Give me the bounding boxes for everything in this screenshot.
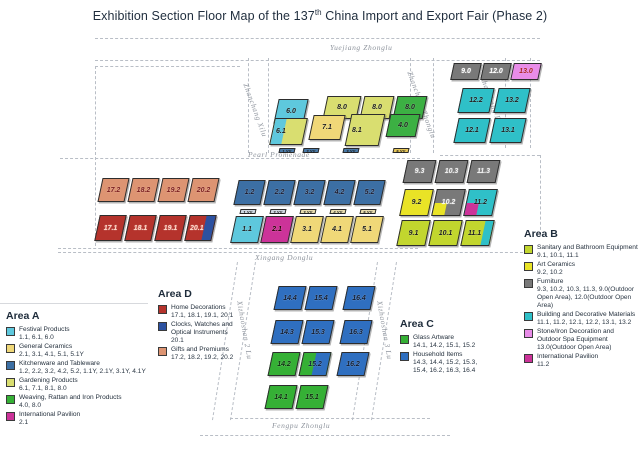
block-label: 15.4 xyxy=(308,287,334,309)
block-label: 16.3 xyxy=(343,321,369,343)
legend-swatch-glass-artware xyxy=(400,335,409,344)
legend-item[interactable]: Glass Artware14.1, 14.2, 15.1, 15.2 xyxy=(400,334,490,350)
road-label-yuejiang-zhonglu: Yuejiang Zhonglu xyxy=(330,43,392,52)
block-label: 15.3 xyxy=(305,321,331,343)
legend-codes: 9.3, 10.2, 10.3, 11.3, 9.0(Outdoor Open … xyxy=(537,286,638,310)
road-line-xingang-upper xyxy=(58,248,418,249)
title-post: China Import and Export Fair (Phase 2) xyxy=(322,9,548,23)
block-label: 12.1 xyxy=(457,119,487,142)
title-sup: th xyxy=(315,8,322,17)
legend-area-d: Area D Home Decorations17.1, 18.1, 19.1,… xyxy=(158,288,253,363)
block-label: 6.1 xyxy=(273,119,307,144)
legend-codes: 11.2 xyxy=(537,361,598,369)
legend-area-b-title: Area B xyxy=(524,228,638,240)
block-label: 9.3 xyxy=(406,161,433,182)
block-15-1[interactable]: 15.1 xyxy=(295,385,328,409)
block-label: 7.1 xyxy=(312,116,342,139)
legend-item[interactable]: Building and Decorative Materials11.1, 1… xyxy=(524,311,638,327)
block-label: 12.2 xyxy=(461,89,491,112)
block-label: 1.2 xyxy=(237,181,262,204)
block-label: 8.1 xyxy=(349,115,384,145)
legend-label: Sanitary and Bathroom Equipment xyxy=(537,244,638,251)
legend-swatch-general-ceramics xyxy=(6,344,15,353)
block-8-1[interactable]: 8.1 xyxy=(345,114,386,146)
legend-label: Home Decorations xyxy=(171,304,226,311)
block-10-2[interactable]: 10.2 xyxy=(431,189,466,216)
legend-area-a: Area A Festival Products1.1, 6.1, 6.0 Ge… xyxy=(6,310,156,428)
block-10-3[interactable]: 10.3 xyxy=(435,160,469,183)
legend-swatch-international-pavilion-b xyxy=(524,354,533,363)
legend-codes: 6.1, 7.1, 8.1, 8.0 xyxy=(19,385,78,393)
entrance-2yy-north[interactable]: 2.YY xyxy=(302,148,319,153)
block-9-2[interactable]: 9.2 xyxy=(399,189,434,216)
block-label: 11.3 xyxy=(470,161,497,182)
block-12-0[interactable]: 12.0 xyxy=(480,63,512,80)
boundary-areab-right xyxy=(540,155,541,235)
road-line-pearl-promenade xyxy=(60,158,420,159)
entrance-label: 5.YY xyxy=(394,149,408,154)
entrance-label: 5.YY xyxy=(361,210,375,215)
block-15-4[interactable]: 15.4 xyxy=(304,286,337,310)
block-4-0[interactable]: 4.0 xyxy=(386,114,421,137)
legend-area-c-title: Area C xyxy=(400,318,490,330)
entrance-1yy-north[interactable]: 1.YY xyxy=(278,148,295,153)
legend-swatch-sanitary-bathroom xyxy=(524,245,533,254)
block-label: 4.0 xyxy=(389,115,417,136)
block-15-2[interactable]: 15.2 xyxy=(298,352,331,376)
legend-swatch-clocks-watches-optical xyxy=(158,322,167,331)
legend-swatch-kitchenware-tableware xyxy=(6,361,15,370)
block-label: 11.2 xyxy=(467,190,494,215)
legend-item[interactable]: General Ceramics2.1, 3.1, 4.1, 5.1, 5.1Y xyxy=(6,343,156,359)
block-13-2[interactable]: 13.2 xyxy=(493,88,530,113)
block-label: 12.0 xyxy=(483,64,509,79)
block-12-1[interactable]: 12.1 xyxy=(453,118,490,143)
block-label: 13.2 xyxy=(497,89,527,112)
legend-swatch-stone-iron-outdoor-spa xyxy=(524,329,533,338)
block-5-2[interactable]: 5.2 xyxy=(353,180,385,205)
entrance-label: 2.YY xyxy=(271,210,285,215)
legend-item[interactable]: Gifts and Premiums17.2, 18.2, 19.2, 20.2 xyxy=(158,346,253,362)
block-14-3[interactable]: 14.3 xyxy=(270,320,303,344)
legend-item[interactable]: Weaving, Rattan and Iron Products4.0, 8.… xyxy=(6,394,156,410)
block-label: 18.2 xyxy=(131,179,156,201)
legend-codes: 20.1 xyxy=(171,337,253,345)
legend-label: Weaving, Rattan and Iron Products xyxy=(19,394,122,401)
entrance-5yy-north[interactable]: 5.YY xyxy=(392,148,409,153)
boundary-areab-top xyxy=(440,155,540,156)
legend-label: Gifts and Premiums xyxy=(171,346,229,353)
block-17-2[interactable]: 17.2 xyxy=(97,178,129,202)
legend-label: Art Ceramics xyxy=(537,261,575,268)
block-9-0[interactable]: 9.0 xyxy=(450,63,482,80)
legend-label: General Ceramics xyxy=(19,343,72,350)
block-1-1[interactable]: 1.1 xyxy=(230,216,264,243)
block-label: 17.2 xyxy=(101,179,126,201)
legend-label: Festival Products xyxy=(19,326,70,333)
legend-swatch-art-ceramics xyxy=(524,262,533,271)
entrance-4yy-areaa[interactable]: 4.YY xyxy=(329,209,346,214)
legend-item[interactable]: Art Ceramics9.2, 10.2 xyxy=(524,261,638,277)
legend-codes: 17.1, 18.1, 19.1, 20.1 xyxy=(171,312,233,320)
legend-codes: 1.1, 6.1, 6.0 xyxy=(19,334,70,342)
boundary-left-vertical xyxy=(95,66,96,246)
block-2-1[interactable]: 2.1 xyxy=(260,216,294,243)
block-label: 16.4 xyxy=(346,287,372,309)
block-label: 9.2 xyxy=(403,190,430,215)
road-line-yuejiang-bottom xyxy=(95,60,540,61)
entrance-label: 1.YY xyxy=(280,149,294,154)
legend-label: Kitchenware and Tableware xyxy=(19,360,100,367)
legend-item[interactable]: International Pavilion11.2 xyxy=(524,353,638,369)
legend-label: International Pavilion xyxy=(537,353,598,360)
block-9-3[interactable]: 9.3 xyxy=(403,160,437,183)
block-12-2[interactable]: 12.2 xyxy=(457,88,494,113)
block-label: 3.1 xyxy=(294,217,320,242)
legend-item[interactable]: Festival Products1.1, 6.1, 6.0 xyxy=(6,326,156,342)
block-20-2[interactable]: 20.2 xyxy=(187,178,219,202)
legend-area-b: Area B Sanitary and Bathroom Equipment9.… xyxy=(524,228,638,370)
floor-map-canvas: Exhibition Section Floor Map of the 137t… xyxy=(0,0,640,455)
legend-label: Building and Decorative Materials xyxy=(537,311,635,318)
road-line-yuejiang-top xyxy=(95,38,540,39)
block-label: 5.1 xyxy=(354,217,380,242)
block-label: 13.0 xyxy=(513,64,539,79)
entrance-label: 3.YY xyxy=(301,210,315,215)
block-16-2[interactable]: 16.2 xyxy=(336,352,369,376)
block-label: 14.1 xyxy=(268,386,294,408)
entrance-5yy-areaa[interactable]: 5.YY xyxy=(359,209,376,214)
legend-item[interactable]: International Pavilion2.1 xyxy=(6,411,156,427)
block-label: 9.0 xyxy=(453,64,479,79)
entrance-label: 2.YY xyxy=(304,149,318,154)
legend-swatch-home-decorations xyxy=(158,305,167,314)
legend-label: Gardening Products xyxy=(19,377,78,384)
legend-codes: 14.3, 14.4, 15.2, 15.3, 15.4, 16.2, 16.3… xyxy=(413,359,490,375)
block-17-1[interactable]: 17.1 xyxy=(94,215,127,241)
block-18-2[interactable]: 18.2 xyxy=(127,178,159,202)
legend-codes: 1.2, 2.2, 3.2, 4.2, 5.2, 1.1Y, 2.1Y, 3.1… xyxy=(19,368,146,376)
block-15-3[interactable]: 15.3 xyxy=(301,320,334,344)
legend-item[interactable]: Home Decorations17.1, 18.1, 19.1, 20.1 xyxy=(158,304,253,320)
road-line-zhanchang-zhonglu-b xyxy=(433,58,434,153)
block-6-1[interactable]: 6.1 xyxy=(269,118,308,145)
entrance-3yy-areaa[interactable]: 3.YY xyxy=(299,209,316,214)
legend-swatch-weaving-rattan-iron xyxy=(6,395,15,404)
block-14-4[interactable]: 14.4 xyxy=(273,286,306,310)
block-13-1[interactable]: 13.1 xyxy=(489,118,526,143)
block-label: 11.1 xyxy=(464,221,495,245)
block-label: 16.2 xyxy=(340,353,366,375)
road-label-xizhaoshan-3-lu: Xizhaoshan 3 Lu xyxy=(375,300,394,360)
legend-codes: 9.1, 10.1, 11.1 xyxy=(537,252,638,260)
block-3-2[interactable]: 3.2 xyxy=(293,180,325,205)
legend-label: Stone/Iron Decoration and Outdoor Spa Eq… xyxy=(537,328,614,343)
block-11-2[interactable]: 11.2 xyxy=(463,189,498,216)
legend-item[interactable]: Household Items14.3, 14.4, 15.2, 15.3, 1… xyxy=(400,351,490,375)
road-line-fengpu-upper xyxy=(230,418,430,419)
legend-label: Household Items xyxy=(413,351,462,358)
legend-label: Clocks, Watches and Optical Instruments xyxy=(171,321,233,336)
block-9-1[interactable]: 9.1 xyxy=(396,220,431,246)
block-16-3[interactable]: 16.3 xyxy=(339,320,372,344)
block-label: 20.1 xyxy=(188,216,215,240)
block-18-1[interactable]: 18.1 xyxy=(124,215,157,241)
block-label: 2.2 xyxy=(267,181,292,204)
legend-area-c: Area C Glass Artware14.1, 14.2, 15.1, 15… xyxy=(400,318,490,376)
block-16-4[interactable]: 16.4 xyxy=(342,286,375,310)
legend-item[interactable]: Kitchenware and Tableware1.2, 2.2, 3.2, … xyxy=(6,360,156,376)
block-label: 10.3 xyxy=(438,161,465,182)
page-title: Exhibition Section Floor Map of the 137t… xyxy=(0,8,640,23)
block-3-1[interactable]: 3.1 xyxy=(290,216,324,243)
block-label: 13.1 xyxy=(493,119,523,142)
legend-swatch-gifts-premiums xyxy=(158,347,167,356)
entrance-label: 1.YY xyxy=(241,210,255,215)
legend-codes: 9.2, 10.2 xyxy=(537,269,575,277)
legend-swatch-international-pavilion-a xyxy=(6,412,15,421)
block-label: 19.1 xyxy=(158,216,183,240)
legend-codes: 4.0, 8.0 xyxy=(19,402,122,410)
block-13-0[interactable]: 13.0 xyxy=(510,63,542,80)
legend-area-d-title: Area D xyxy=(158,288,253,300)
block-label: 1.1 xyxy=(234,217,260,242)
legend-item[interactable]: Sanitary and Bathroom Equipment9.1, 10.1… xyxy=(524,244,638,260)
block-2-2[interactable]: 2.2 xyxy=(263,180,295,205)
road-label-xingang-donglu: Xingang Donglu xyxy=(255,253,313,262)
legend-swatch-festival-products xyxy=(6,327,15,336)
block-label: 20.2 xyxy=(191,179,216,201)
legend-codes: 2.1, 3.1, 4.1, 5.1, 5.1Y xyxy=(19,351,84,359)
legend-swatch-furniture xyxy=(524,279,533,288)
block-20-1[interactable]: 20.1 xyxy=(184,215,217,241)
legend-item[interactable]: Stone/Iron Decoration and Outdoor Spa Eq… xyxy=(524,328,638,352)
block-label: 10.1 xyxy=(432,221,459,245)
block-label: 3.2 xyxy=(297,181,322,204)
boundary-upper-left xyxy=(95,66,240,67)
legend-item[interactable]: Furniture9.3, 10.2, 10.3, 11.3, 9.0(Outd… xyxy=(524,278,638,310)
road-line-fengpu-lower xyxy=(200,435,450,436)
legend-item[interactable]: Clocks, Watches and Optical Instruments2… xyxy=(158,321,253,345)
block-label: 14.4 xyxy=(277,287,303,309)
road-line-zhanchang-xilu-b xyxy=(268,58,269,153)
legend-area-a-divider xyxy=(0,303,148,304)
block-4-2[interactable]: 4.2 xyxy=(323,180,355,205)
legend-codes: 11.1, 11.2, 12.1, 12.2, 13.1, 13.2 xyxy=(537,319,635,327)
block-5-1[interactable]: 5.1 xyxy=(350,216,384,243)
road-label-fengpu-zhonglu: Fengpu Zhonglu xyxy=(272,421,330,430)
legend-swatch-household-items xyxy=(400,352,409,361)
block-19-1[interactable]: 19.1 xyxy=(154,215,187,241)
entrance-2yy-areaa[interactable]: 2.YY xyxy=(269,209,286,214)
block-label: 15.1 xyxy=(299,386,325,408)
block-label: 4.2 xyxy=(327,181,352,204)
entrance-3yy-north[interactable]: 3.YY xyxy=(342,148,359,153)
entrance-label: 4.YY xyxy=(331,210,345,215)
legend-codes: 2.1 xyxy=(19,419,80,427)
block-1-2[interactable]: 1.2 xyxy=(233,180,265,205)
block-label: 18.1 xyxy=(128,216,153,240)
block-label: 15.2 xyxy=(302,353,328,375)
legend-label: International Pavilion xyxy=(19,411,80,418)
legend-swatch-building-decorative xyxy=(524,312,533,321)
block-14-2[interactable]: 14.2 xyxy=(267,352,300,376)
block-label: 19.2 xyxy=(161,179,186,201)
block-label: 9.1 xyxy=(400,221,427,245)
block-11-1[interactable]: 11.1 xyxy=(460,220,495,246)
legend-swatch-gardening-products xyxy=(6,378,15,387)
legend-area-a-title: Area A xyxy=(6,310,156,322)
block-label: 17.1 xyxy=(98,216,123,240)
block-4-1[interactable]: 4.1 xyxy=(320,216,354,243)
legend-item[interactable]: Gardening Products6.1, 7.1, 8.1, 8.0 xyxy=(6,377,156,393)
legend-codes: 17.2, 18.2, 19.2, 20.2 xyxy=(171,354,233,362)
legend-codes: 14.1, 14.2, 15.1, 15.2 xyxy=(413,342,475,350)
block-19-2[interactable]: 19.2 xyxy=(157,178,189,202)
road-label-zhanchang-xilu: Zhanchang Xilu xyxy=(242,82,270,138)
block-10-1[interactable]: 10.1 xyxy=(428,220,463,246)
block-14-1[interactable]: 14.1 xyxy=(264,385,297,409)
legend-label: Glass Artware xyxy=(413,334,454,341)
block-11-3[interactable]: 11.3 xyxy=(467,160,501,183)
block-label: 2.1 xyxy=(264,217,290,242)
block-7-1[interactable]: 7.1 xyxy=(308,115,345,140)
legend-label: Furniture xyxy=(537,278,563,285)
block-label: 4.1 xyxy=(324,217,350,242)
block-label: 10.2 xyxy=(435,190,462,215)
block-label: 5.2 xyxy=(357,181,382,204)
entrance-label: 3.YY xyxy=(344,149,358,154)
entrance-1yy-areaa[interactable]: 1.YY xyxy=(239,209,256,214)
title-pre: Exhibition Section Floor Map of the 137 xyxy=(93,9,315,23)
legend-codes: 13.0(Outdoor Open Area) xyxy=(537,344,638,352)
block-label: 14.2 xyxy=(271,353,297,375)
block-label: 14.3 xyxy=(274,321,300,343)
